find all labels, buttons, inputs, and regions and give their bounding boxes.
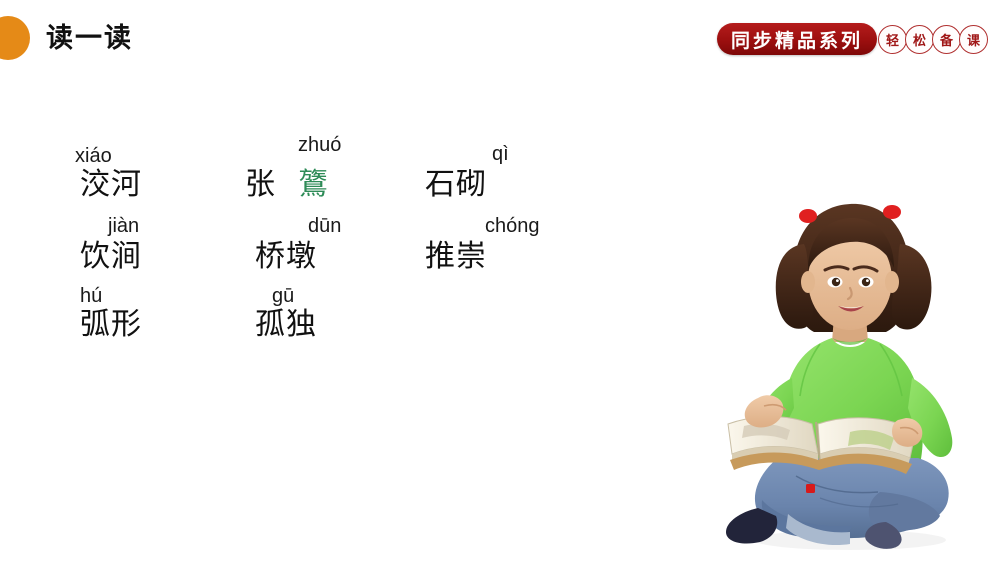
- pinyin-qi: qì: [492, 144, 509, 164]
- hanzi-qiaodun: 桥墩: [255, 242, 317, 272]
- hanzi-shiqi: 石砌: [425, 170, 487, 200]
- pinyin-gu: gū: [272, 286, 294, 306]
- hair-tie-left: [799, 209, 817, 223]
- brand-logo: 同步精品系列 轻 松 备 课: [717, 21, 988, 57]
- brand-circle-4: 课: [959, 25, 988, 54]
- jeans-red-tab: [806, 484, 815, 493]
- pinyin-xiao: xiáo: [75, 146, 112, 166]
- pinyin-zhuo: zhuó: [298, 135, 341, 155]
- hanzi-gudu: 孤独: [255, 310, 317, 340]
- brand-circle-3: 备: [932, 25, 961, 54]
- hair-tie-right: [883, 205, 901, 219]
- pinyin-jian: jiàn: [108, 216, 139, 236]
- hanzi-zhang: 张: [245, 170, 276, 200]
- girl-reading-photo: [700, 192, 1000, 563]
- pinyin-dun: dūn: [308, 216, 341, 236]
- brand-circle-1: 轻: [878, 25, 907, 54]
- word-list: xiáo 洨河 zhuó 张 鷟 qì 石砌 jiàn 饮涧 dūn 桥墩 ch…: [0, 0, 660, 563]
- brand-circle-2: 松: [905, 25, 934, 54]
- jeans: [755, 458, 949, 545]
- hanzi-huxing: 弧形: [80, 310, 142, 340]
- hanzi-tuichong: 推崇: [425, 242, 487, 272]
- hanzi-jiaohe: 洨河: [80, 170, 142, 200]
- pinyin-hu: hú: [80, 286, 102, 306]
- brand-circle-group: 轻 松 备 课: [880, 25, 988, 54]
- hanzi-zhuo-accent: 鷟: [298, 170, 329, 200]
- hanzi-yinjian: 饮涧: [80, 242, 142, 272]
- pinyin-chong: chóng: [485, 216, 540, 236]
- brand-badge: 同步精品系列: [717, 23, 877, 55]
